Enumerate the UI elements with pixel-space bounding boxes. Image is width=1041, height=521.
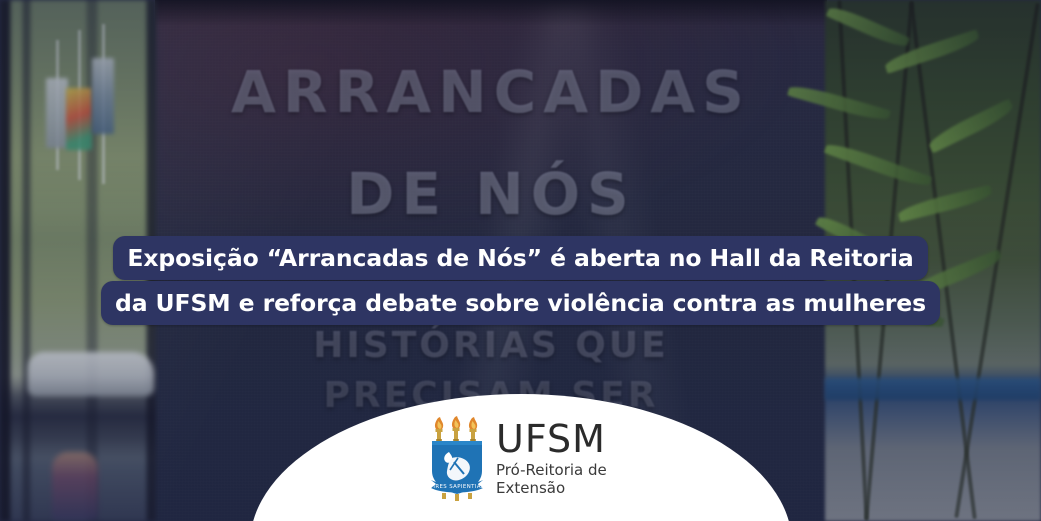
person-silhouette: [52, 452, 98, 521]
flag-white-icon: [46, 78, 68, 148]
banner-text-line-1: ARRANCADAS: [155, 58, 827, 126]
ufsm-logo-text: UFSM Pró-Reitoria de Extensão: [496, 420, 607, 497]
headline-line-2: da UFSM e reforça debate sobre violência…: [101, 281, 940, 325]
headline-row-2: da UFSM e reforça debate sobre violência…: [0, 280, 1041, 325]
headline-line-1: Exposição “Arrancadas de Nós” é aberta n…: [113, 236, 927, 280]
banner-text-line-2: DE NÓS: [155, 160, 827, 228]
blue-handrail: [825, 378, 1041, 400]
ufsm-subtitle-line-2: Extensão: [496, 479, 607, 497]
ufsm-crest-icon: VIRES SAPIENTIAE: [428, 414, 486, 502]
banner-top-shadow: [155, 0, 827, 26]
flag-rio-grande-do-sul-icon: [66, 88, 92, 150]
flag-blue-icon: [92, 58, 114, 134]
banner-text-line-3: HISTÓRIAS QUE: [155, 325, 827, 366]
ufsm-acronym: UFSM: [496, 420, 607, 458]
headline-row-1: Exposição “Arrancadas de Nós” é aberta n…: [0, 236, 1041, 280]
parked-car: [28, 352, 154, 396]
headline-overlay: Exposição “Arrancadas de Nós” é aberta n…: [0, 236, 1041, 325]
ufsm-logo: VIRES SAPIENTIAE UFSM Pró-Reitoria de Ex…: [428, 414, 618, 502]
news-hero-image: ARRANCADAS DE NÓS HISTÓRIAS QUE PRECISAM…: [0, 0, 1041, 521]
ufsm-subtitle-line-1: Pró-Reitoria de: [496, 461, 607, 479]
svg-text:VIRES SAPIENTIAE: VIRES SAPIENTIAE: [429, 484, 485, 490]
